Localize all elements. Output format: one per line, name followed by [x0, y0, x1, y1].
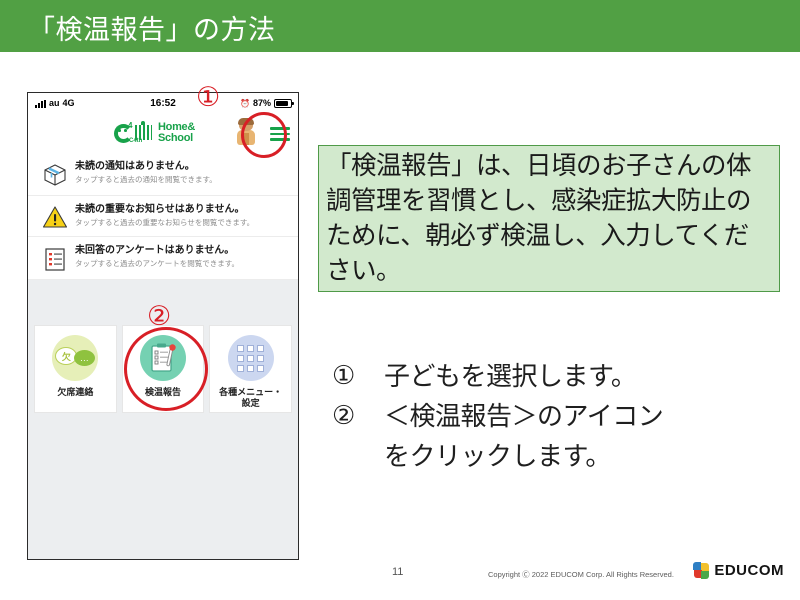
- callout-box: 「検温報告」は、日頃のお子さんの体調管理を習慣とし、感染症拡大防止のために、朝必…: [318, 145, 780, 292]
- alarm-icon: ⏰: [240, 99, 250, 108]
- app-header-bar: 4 C4th Home& School: [28, 113, 298, 154]
- tile-label: 各種メニュー・ 設定: [219, 387, 282, 409]
- list-item[interactable]: 未読の重要なお知らせはありません。 タップすると過去の重要なお知らせを閲覧できま…: [28, 196, 298, 237]
- tile-menu-settings[interactable]: 各種メニュー・ 設定: [209, 325, 292, 413]
- list-item[interactable]: 未回答のアンケートはありません。 タップすると過去のアンケートを閲覧できます。: [28, 237, 298, 280]
- logo-word-school: School: [158, 132, 193, 144]
- educom-wordmark: EDUCOM: [714, 562, 784, 579]
- tile-label: 検温報告: [145, 387, 181, 398]
- notification-subtitle: タップすると過去の通知を閲覧できます。: [75, 175, 290, 185]
- hamburger-menu-icon[interactable]: [270, 127, 290, 144]
- educom-logo: EDUCOM: [693, 562, 784, 579]
- thermometer-clipboard-icon: [140, 335, 186, 381]
- warning-triangle-icon: [37, 203, 73, 229]
- step-item-2: ② ＜検温報告＞のアイコン: [332, 396, 792, 436]
- page-number: 11: [392, 566, 403, 578]
- tile-label-line2: 設定: [242, 398, 260, 408]
- copyright-notice: Copyright Ⓒ 2022 EDUCOM Corp. All Rights…: [488, 569, 674, 580]
- page-title: 「検温報告」の方法: [28, 8, 276, 47]
- battery-percent-label: 87%: [253, 98, 271, 108]
- tile-absence-contact[interactable]: 欠 … 欠席連絡: [34, 325, 117, 413]
- callout-text: 「検温報告」は、日頃のお子さんの体調管理を習慣とし、感染症拡大防止のために、朝必…: [326, 149, 773, 289]
- slide-header-banner: 「検温報告」の方法: [0, 0, 800, 52]
- absence-dots: …: [74, 350, 95, 366]
- step-text-continuation: をクリックします。: [332, 436, 792, 476]
- notification-text: 未読の重要なお知らせはありません。 タップすると過去の重要なお知らせを閲覧できま…: [73, 203, 290, 228]
- notification-subtitle: タップすると過去のアンケートを閲覧できます。: [75, 259, 290, 269]
- list-item[interactable]: 未読の通知はありません。 タップすると過去の通知を閲覧できます。: [28, 153, 298, 196]
- notification-title: 未読の重要なお知らせはありません。: [75, 203, 290, 216]
- avatar[interactable]: [234, 118, 260, 148]
- package-box-icon: [37, 160, 73, 188]
- grid-menu-icon: [228, 335, 274, 381]
- tile-label: 欠席連絡: [57, 387, 93, 398]
- speech-bubbles-icon: 欠 …: [52, 335, 98, 381]
- step-number: ②: [332, 396, 384, 436]
- logo-c4th-label: C4th: [129, 138, 142, 144]
- status-bar-right: ⏰ 87%: [240, 98, 292, 108]
- phone-status-bar: au 4G 16:52 ⏰ 87%: [28, 93, 298, 113]
- educom-logo-mark: [693, 562, 710, 579]
- step-text: 子どもを選択します。: [384, 356, 792, 396]
- logo-four-label: 4: [128, 121, 132, 130]
- tile-label-line1: 各種メニュー・: [219, 387, 282, 397]
- battery-icon: [274, 99, 292, 108]
- tile-temperature-report[interactable]: 検温報告: [122, 325, 205, 413]
- notification-text: 未回答のアンケートはありません。 タップすると過去のアンケートを閲覧できます。: [73, 244, 290, 269]
- notification-subtitle: タップすると過去の重要なお知らせを閲覧できます。: [75, 218, 290, 228]
- notification-title: 未回答のアンケートはありません。: [75, 244, 290, 257]
- logo-wordmark: Home& School: [158, 122, 195, 144]
- quick-action-tiles: 欠 … 欠席連絡: [28, 325, 298, 413]
- notification-text: 未読の通知はありません。 タップすると過去の通知を閲覧できます。: [73, 160, 290, 185]
- clipboard-survey-icon: [37, 244, 73, 272]
- step-item-1: ① 子どもを選択します。: [332, 356, 792, 396]
- c4th-home-school-logo: 4 C4th Home& School: [114, 121, 195, 145]
- notification-title: 未読の通知はありません。: [75, 160, 290, 173]
- step-text: ＜検温報告＞のアイコン: [384, 396, 792, 436]
- notification-list: 未読の通知はありません。 タップすると過去の通知を閲覧できます。 未読の重要なお…: [28, 153, 298, 280]
- step-instructions: ① 子どもを選択します。 ② ＜検温報告＞のアイコン をクリックします。: [332, 356, 792, 476]
- step-number: ①: [332, 356, 384, 396]
- c4th-logo-mark: 4 C4th: [114, 121, 156, 145]
- phone-screenshot: au 4G 16:52 ⏰ 87% 4 C4th Home& School: [27, 92, 299, 560]
